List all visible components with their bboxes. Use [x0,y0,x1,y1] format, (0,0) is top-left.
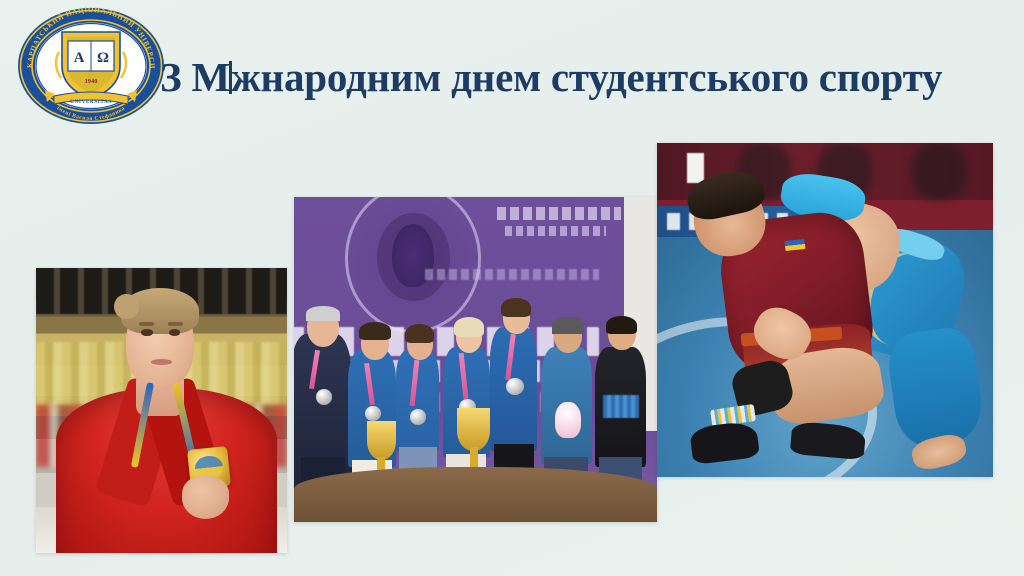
svg-text:1940: 1940 [85,78,98,85]
svg-text:Ω: Ω [97,50,109,66]
lips [151,359,171,365]
photo-wrestling-match [657,143,993,477]
wooden-table [294,467,657,522]
person-hair-5 [501,298,531,318]
university-logo: ПРИКАРПАТСЬКИЙ НАЦІОНАЛЬНИЙ УНІВЕРСИТЕТ … [12,4,170,124]
eyebrow-left [139,322,154,326]
title-suffix: жнародним днем студентського спорту [231,53,942,101]
title-prefix: З М [160,53,230,101]
banner-text-small-2 [505,226,607,236]
person-hair-2 [359,322,390,340]
page-title: З Мжнародним днем студентського спорту [160,41,1020,113]
person-hair-6 [552,317,584,333]
person-hair-4 [454,317,484,337]
eye-left [141,329,152,335]
banner-text-small-3 [425,269,599,280]
banner-text-small-1 [497,207,620,220]
slide-header: ПРИКАРПАТСЬКИЙ НАЦІОНАЛЬНИЙ УНІВЕРСИТЕТ … [0,0,1024,128]
photo-sambo-athlete [36,268,287,553]
hair-bun [114,294,139,320]
person-hair-3 [405,324,434,344]
background-white-panel [687,153,704,183]
photo-award-ceremony [294,197,657,522]
shirt-graphic-7 [603,395,639,418]
background-spectator-3 [912,143,966,200]
svg-text:А: А [74,50,85,66]
mascot-figure [555,402,580,438]
trophy-cup-2 [457,408,490,450]
hand-holding-medal [182,476,230,519]
medal-3 [410,409,426,425]
svg-text:UNIVERSITAS: UNIVERSITAS [70,99,112,105]
medal-2 [365,406,381,422]
trophy-cup-1 [367,421,396,460]
eye-right [169,329,180,335]
ukraine-flag-icon [784,239,805,251]
person-hair-7 [606,316,637,334]
slide-root: ПРИКАРПАТСЬКИЙ НАЦІОНАЛЬНИЙ УНІВЕРСИТЕТ … [0,0,1024,576]
eyebrow-right [168,322,183,326]
person-hair-1 [306,306,341,321]
medal-5 [506,378,523,395]
